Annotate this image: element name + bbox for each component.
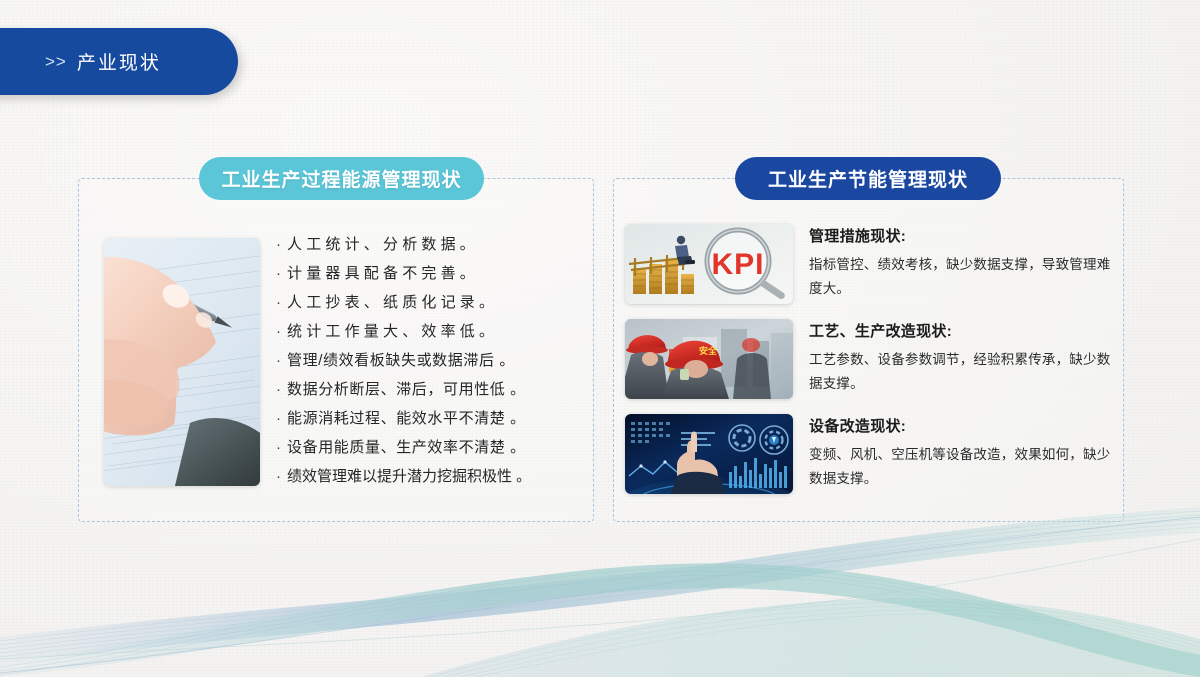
bullet-dot-icon: ·: [276, 266, 287, 281]
hand-writing-photo: [104, 238, 260, 486]
list-item: · 能源消耗过程、能效水平不清楚 。: [276, 407, 576, 436]
workers-red-helmets-image: 安全: [625, 319, 793, 399]
item-body: 指标管控、绩效考核，缺少数据支撑，导致管理难度大。: [809, 253, 1115, 301]
chevron-double-right-icon: >>: [45, 52, 67, 72]
list-item: · 数据分析断层、滞后，可用性低 。: [276, 378, 576, 407]
bullet-dot-icon: ·: [276, 237, 287, 252]
list-item: · 人工统计、分析数据。: [276, 233, 576, 262]
list-item: KPI 管理措施现状: 指标管控、绩效考核，缺少数据支撑，导致管理难度大。: [625, 224, 1115, 304]
panel-right-title-pill: 工业生产节能管理现状: [735, 157, 1001, 200]
digital-dashboard-image: [625, 414, 793, 494]
list-item: · 统计工作量大、效率低。: [276, 320, 576, 349]
panel-left-title-pill: 工业生产过程能源管理现状: [199, 157, 484, 200]
item-title: 工艺、生产改造现状:: [809, 320, 1115, 341]
item-body: 变频、风机、空压机等设备改造，效果如何，缺少数据支撑。: [809, 443, 1115, 491]
list-item: · 计量器具配备不完善。: [276, 262, 576, 291]
bullet-dot-icon: ·: [276, 469, 287, 484]
list-item: · 设备用能质量、生产效率不清楚 。: [276, 436, 576, 465]
item-title: 管理措施现状:: [809, 225, 1115, 246]
section-header-tab: >> 产业现状: [0, 28, 238, 95]
item-body: 工艺参数、设备参数调节，经验积累传承，缺少数据支撑。: [809, 348, 1115, 396]
svg-text:KPI: KPI: [711, 248, 764, 281]
text-block: 管理措施现状: 指标管控、绩效考核，缺少数据支撑，导致管理难度大。: [809, 224, 1115, 304]
page-title: 产业现状: [77, 48, 161, 75]
kpi-magnifier-image: KPI: [625, 224, 793, 304]
text-block: 设备改造现状: 变频、风机、空压机等设备改造，效果如何，缺少数据支撑。: [809, 414, 1115, 494]
list-item: · 绩效管理难以提升潜力挖掘积极性 。: [276, 465, 576, 494]
bullet-dot-icon: ·: [276, 353, 287, 368]
list-item: · 管理/绩效看板缺失或数据滞后 。: [276, 349, 576, 378]
bullet-dot-icon: ·: [276, 324, 287, 339]
svg-text:安全: 安全: [699, 345, 718, 356]
list-item: 安全 工艺、生产改造现状: 工艺参数、设备参数调节，经验积累传承，缺少数据支撑。: [625, 319, 1115, 399]
bullet-dot-icon: ·: [276, 411, 287, 426]
item-title: 设备改造现状:: [809, 415, 1115, 436]
list-item: 设备改造现状: 变频、风机、空压机等设备改造，效果如何，缺少数据支撑。: [625, 414, 1115, 494]
energy-issues-list: · 人工统计、分析数据。 · 计量器具配备不完善。 · 人工抄表、纸质化记录。 …: [276, 233, 576, 494]
bullet-dot-icon: ·: [276, 440, 287, 455]
bullet-dot-icon: ·: [276, 295, 287, 310]
list-item: · 人工抄表、纸质化记录。: [276, 291, 576, 320]
text-block: 工艺、生产改造现状: 工艺参数、设备参数调节，经验积累传承，缺少数据支撑。: [809, 319, 1115, 399]
header-tab-inner: >> 产业现状: [0, 48, 161, 75]
bullet-dot-icon: ·: [276, 382, 287, 397]
